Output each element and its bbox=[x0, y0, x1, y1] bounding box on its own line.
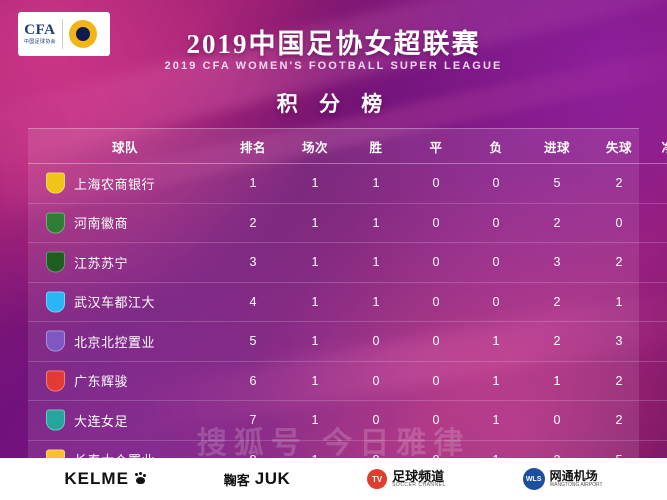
column-header-loss: 负 bbox=[466, 129, 526, 164]
paw-icon bbox=[134, 473, 147, 486]
sponsor-airport-english: WANGTONG AIRPORT bbox=[550, 483, 603, 489]
cell-draw: 0 bbox=[406, 361, 466, 401]
table-row: 广东辉骏6100112-10 bbox=[28, 361, 667, 401]
team-crest-icon bbox=[46, 252, 65, 273]
cell-team: 大连女足 bbox=[28, 401, 222, 441]
cell-goals-for: 3 bbox=[526, 243, 588, 283]
team-name: 上海农商银行 bbox=[74, 177, 155, 192]
cell-draw: 0 bbox=[406, 203, 466, 243]
cell-rank: 2 bbox=[222, 203, 284, 243]
sponsor-juk: 鞠客 JUK bbox=[224, 469, 291, 489]
table-row: 武汉车都江大411002113 bbox=[28, 282, 667, 322]
cell-goals-for: 2 bbox=[526, 282, 588, 322]
standings-table: 球队 排名 场次 胜 平 负 进球 失球 净胜球 积分 上海农商银行111005… bbox=[28, 129, 667, 479]
column-header-draw: 平 bbox=[406, 129, 466, 164]
cell-played: 1 bbox=[284, 282, 346, 322]
cell-team: 武汉车都江大 bbox=[28, 282, 222, 322]
cell-rank: 3 bbox=[222, 243, 284, 283]
table-row: 北京北控置业5100123-10 bbox=[28, 322, 667, 362]
team-crest-icon bbox=[46, 173, 65, 194]
team-crest-icon bbox=[46, 370, 65, 391]
table-header-row: 球队 排名 场次 胜 平 负 进球 失球 净胜球 积分 bbox=[28, 129, 667, 164]
table-row: 大连女足7100102-20 bbox=[28, 401, 667, 441]
column-header-goal-difference: 净胜球 bbox=[650, 129, 667, 164]
sponsor-juk-chinese: 鞠客 bbox=[224, 470, 250, 489]
team-name: 大连女足 bbox=[74, 414, 128, 429]
cell-goal-difference: 1 bbox=[650, 243, 667, 283]
cell-played: 1 bbox=[284, 203, 346, 243]
column-header-goals-for: 进球 bbox=[526, 129, 588, 164]
tv-icon: TV bbox=[367, 469, 387, 489]
cell-goals-for: 1 bbox=[526, 361, 588, 401]
cell-draw: 0 bbox=[406, 282, 466, 322]
cell-goals-against: 2 bbox=[588, 243, 650, 283]
sponsor-channel-english: SOCCER CHANNEL bbox=[392, 483, 446, 488]
cell-loss: 0 bbox=[466, 203, 526, 243]
sponsor-kelme-label: KELME bbox=[64, 469, 129, 489]
sponsor-channel-text: 足球频道 SOCCER CHANNEL bbox=[392, 470, 446, 489]
team-crest-icon bbox=[46, 291, 65, 312]
sponsor-kelme: KELME bbox=[64, 469, 147, 489]
cell-goal-difference: -1 bbox=[650, 361, 667, 401]
table-row: 江苏苏宁311003213 bbox=[28, 243, 667, 283]
sponsor-airport-text: 网通机场 WANGTONG AIRPORT bbox=[550, 470, 603, 489]
cell-team: 广东辉骏 bbox=[28, 361, 222, 401]
cell-goal-difference: 2 bbox=[650, 203, 667, 243]
cell-played: 1 bbox=[284, 322, 346, 362]
cell-goal-difference: -2 bbox=[650, 401, 667, 441]
cell-played: 1 bbox=[284, 164, 346, 204]
cell-goals-against: 2 bbox=[588, 401, 650, 441]
cell-rank: 7 bbox=[222, 401, 284, 441]
cell-team: 北京北控置业 bbox=[28, 322, 222, 362]
cell-draw: 0 bbox=[406, 401, 466, 441]
cell-goals-against: 0 bbox=[588, 203, 650, 243]
team-crest-icon bbox=[46, 212, 65, 233]
sponsor-bar: KELME 鞠客 JUK TV 足球频道 SOCCER CHANNEL WLS … bbox=[0, 458, 667, 500]
team-crest-icon bbox=[46, 331, 65, 352]
cell-rank: 6 bbox=[222, 361, 284, 401]
cell-loss: 0 bbox=[466, 282, 526, 322]
poster-canvas: CFA 中国足球协会 2019中国足协女超联赛 2019 CFA WOMEN'S… bbox=[0, 0, 667, 500]
table-header: 球队 排名 场次 胜 平 负 进球 失球 净胜球 积分 bbox=[28, 129, 667, 164]
team-name: 河南徽商 bbox=[74, 216, 128, 231]
cell-loss: 1 bbox=[466, 322, 526, 362]
column-header-win: 胜 bbox=[346, 129, 406, 164]
cell-loss: 1 bbox=[466, 401, 526, 441]
cell-win: 1 bbox=[346, 203, 406, 243]
cell-goals-for: 5 bbox=[526, 164, 588, 204]
cell-loss: 0 bbox=[466, 243, 526, 283]
cell-played: 1 bbox=[284, 401, 346, 441]
cell-rank: 4 bbox=[222, 282, 284, 322]
page-title: 2019中国足协女超联赛 bbox=[0, 22, 667, 61]
table-row: 河南徽商211002023 bbox=[28, 203, 667, 243]
page-subtitle: 积 分 榜 bbox=[0, 88, 667, 118]
table-row: 上海农商银行111005233 bbox=[28, 164, 667, 204]
cell-goal-difference: -1 bbox=[650, 322, 667, 362]
wls-icon: WLS bbox=[523, 468, 545, 490]
cell-goal-difference: 3 bbox=[650, 164, 667, 204]
column-header-team: 球队 bbox=[28, 129, 222, 164]
cell-loss: 0 bbox=[466, 164, 526, 204]
cell-win: 0 bbox=[346, 401, 406, 441]
cell-draw: 0 bbox=[406, 164, 466, 204]
standings-table-container: 球队 排名 场次 胜 平 负 进球 失球 净胜球 积分 上海农商银行111005… bbox=[28, 128, 639, 458]
cell-win: 0 bbox=[346, 322, 406, 362]
cell-goals-against: 2 bbox=[588, 164, 650, 204]
cell-rank: 5 bbox=[222, 322, 284, 362]
cell-goals-for: 2 bbox=[526, 322, 588, 362]
page-title-english: 2019 CFA WOMEN'S FOOTBALL SUPER LEAGUE bbox=[0, 60, 667, 72]
cell-played: 1 bbox=[284, 243, 346, 283]
team-name: 武汉车都江大 bbox=[74, 295, 155, 310]
cell-win: 1 bbox=[346, 243, 406, 283]
cell-win: 0 bbox=[346, 361, 406, 401]
cell-team: 江苏苏宁 bbox=[28, 243, 222, 283]
cell-rank: 1 bbox=[222, 164, 284, 204]
sponsor-airport-chinese: 网通机场 bbox=[550, 470, 603, 483]
team-name: 江苏苏宁 bbox=[74, 256, 128, 271]
cell-team: 上海农商银行 bbox=[28, 164, 222, 204]
cell-loss: 1 bbox=[466, 361, 526, 401]
sponsor-channel-chinese: 足球频道 bbox=[392, 470, 446, 484]
cell-played: 1 bbox=[284, 361, 346, 401]
sponsor-juk-label: JUK bbox=[255, 469, 291, 489]
team-name: 广东辉骏 bbox=[74, 374, 128, 389]
team-name: 北京北控置业 bbox=[74, 335, 155, 350]
cell-goals-for: 2 bbox=[526, 203, 588, 243]
sponsor-airport: WLS 网通机场 WANGTONG AIRPORT bbox=[523, 468, 603, 490]
column-header-goals-against: 失球 bbox=[588, 129, 650, 164]
column-header-rank: 排名 bbox=[222, 129, 284, 164]
cell-goals-against: 3 bbox=[588, 322, 650, 362]
cell-win: 1 bbox=[346, 282, 406, 322]
column-header-played: 场次 bbox=[284, 129, 346, 164]
cell-draw: 0 bbox=[406, 243, 466, 283]
cell-goal-difference: 1 bbox=[650, 282, 667, 322]
table-body: 上海农商银行111005233河南徽商211002023江苏苏宁31100321… bbox=[28, 164, 667, 480]
cell-win: 1 bbox=[346, 164, 406, 204]
cell-team: 河南徽商 bbox=[28, 203, 222, 243]
cell-goals-against: 1 bbox=[588, 282, 650, 322]
cell-goals-for: 0 bbox=[526, 401, 588, 441]
team-crest-icon bbox=[46, 410, 65, 431]
cell-draw: 0 bbox=[406, 322, 466, 362]
sponsor-soccer-channel: TV 足球频道 SOCCER CHANNEL bbox=[367, 469, 446, 489]
cell-goals-against: 2 bbox=[588, 361, 650, 401]
